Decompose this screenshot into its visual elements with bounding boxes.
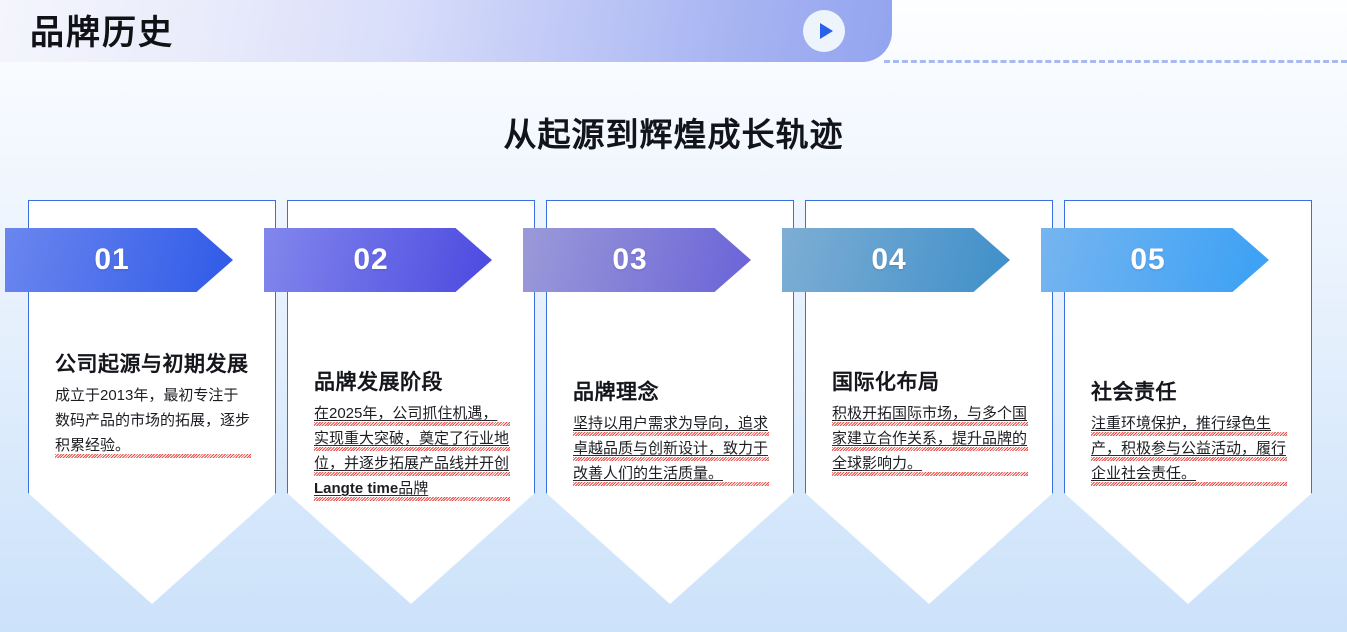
card-number: 01	[94, 243, 129, 277]
card-title: 品牌理念	[573, 378, 769, 407]
page-title: 品牌历史	[30, 12, 174, 54]
spellcheck-underline	[314, 422, 510, 426]
spellcheck-underline	[573, 432, 769, 436]
spellcheck-underline	[55, 454, 251, 458]
card-description-part: 在2025年，公司抓住机遇，实现重大突破，奠定了行业地位，并逐步拓展产品线并开创	[314, 405, 509, 472]
section-heading: 从起源到辉煌成长轨迹	[0, 108, 1347, 156]
card-number-banner: 02	[264, 228, 492, 292]
card-description-part: 品牌	[398, 480, 428, 497]
card-body: 公司起源与初期发展成立于2013年，最初专注于数码产品的市场的拓展，逐步积累经验…	[55, 350, 251, 458]
card-description: 在2025年，公司抓住机遇，实现重大突破，奠定了行业地位，并逐步拓展产品线并开创…	[314, 401, 510, 501]
card-body: 社会责任注重环境保护，推行绿色生产，积极参与公益活动，履行企业社会责任。	[1091, 378, 1287, 486]
card-number: 05	[1130, 243, 1165, 277]
timeline-card-05[interactable]: 05社会责任注重环境保护，推行绿色生产，积极参与公益活动，履行企业社会责任。	[1064, 200, 1312, 604]
spellcheck-underline	[1091, 457, 1287, 461]
card-title: 公司起源与初期发展	[55, 350, 251, 379]
spellcheck-underline	[1091, 482, 1287, 486]
spellcheck-underline	[314, 472, 510, 476]
card-number-banner: 05	[1041, 228, 1269, 292]
card-description: 注重环境保护，推行绿色生产，积极参与公益活动，履行企业社会责任。	[1091, 411, 1287, 486]
header-dashed-rule	[884, 60, 1347, 63]
card-body: 品牌理念坚持以用户需求为导向，追求卓越品质与创新设计，致力于改善人们的生活质量。	[573, 378, 769, 486]
card-description-brand: Langte time	[314, 480, 398, 497]
card-title: 社会责任	[1091, 378, 1287, 407]
card-title: 国际化布局	[832, 368, 1028, 397]
play-triangle-icon	[820, 23, 833, 39]
spellcheck-underline	[832, 422, 1028, 426]
spellcheck-underline	[573, 457, 769, 461]
timeline-card-02[interactable]: 02品牌发展阶段在2025年，公司抓住机遇，实现重大突破，奠定了行业地位，并逐步…	[287, 200, 535, 604]
spellcheck-underline	[314, 447, 510, 451]
spellcheck-underline	[832, 472, 1028, 476]
card-number: 04	[871, 243, 906, 277]
spellcheck-underline	[1091, 432, 1287, 436]
spellcheck-underline	[573, 482, 769, 486]
card-body: 国际化布局积极开拓国际市场，与多个国家建立合作关系，提升品牌的全球影响力。	[832, 368, 1028, 476]
timeline-card-01[interactable]: 01公司起源与初期发展成立于2013年，最初专注于数码产品的市场的拓展，逐步积累…	[28, 200, 276, 604]
card-number-banner: 04	[782, 228, 1010, 292]
card-title: 品牌发展阶段	[314, 368, 510, 397]
card-description: 积极开拓国际市场，与多个国家建立合作关系，提升品牌的全球影响力。	[832, 401, 1028, 476]
timeline-card-03[interactable]: 03品牌理念坚持以用户需求为导向，追求卓越品质与创新设计，致力于改善人们的生活质…	[546, 200, 794, 604]
card-number-banner: 01	[5, 228, 233, 292]
spellcheck-underline	[832, 447, 1028, 451]
card-number: 03	[612, 243, 647, 277]
spellcheck-underline	[314, 497, 510, 501]
card-number-banner: 03	[523, 228, 751, 292]
card-number: 02	[353, 243, 388, 277]
card-description: 坚持以用户需求为导向，追求卓越品质与创新设计，致力于改善人们的生活质量。	[573, 411, 769, 486]
timeline-card-04[interactable]: 04国际化布局积极开拓国际市场，与多个国家建立合作关系，提升品牌的全球影响力。	[805, 200, 1053, 604]
card-description: 成立于2013年，最初专注于数码产品的市场的拓展，逐步积累经验。	[55, 383, 251, 458]
card-body: 品牌发展阶段在2025年，公司抓住机遇，实现重大突破，奠定了行业地位，并逐步拓展…	[314, 368, 510, 501]
play-icon[interactable]	[803, 10, 845, 52]
timeline-card-list: 01公司起源与初期发展成立于2013年，最初专注于数码产品的市场的拓展，逐步积累…	[0, 200, 1347, 632]
